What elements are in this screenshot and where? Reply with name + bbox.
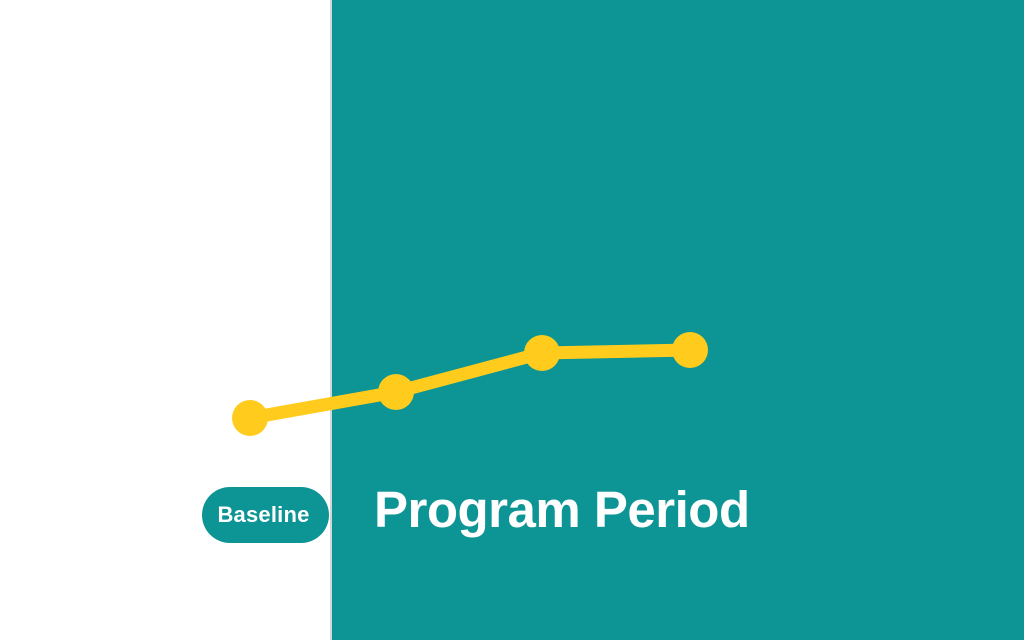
slide-canvas: Baseline Program Period xyxy=(0,0,1024,640)
chart-trend-line xyxy=(250,350,690,418)
line-chart xyxy=(0,0,1024,640)
chart-marker xyxy=(524,335,560,371)
baseline-label-pill: Baseline xyxy=(202,487,329,543)
chart-marker xyxy=(378,374,414,410)
baseline-label-text: Baseline xyxy=(217,504,309,526)
chart-marker xyxy=(672,332,708,368)
chart-marker xyxy=(232,400,268,436)
program-period-title: Program Period xyxy=(374,484,750,535)
